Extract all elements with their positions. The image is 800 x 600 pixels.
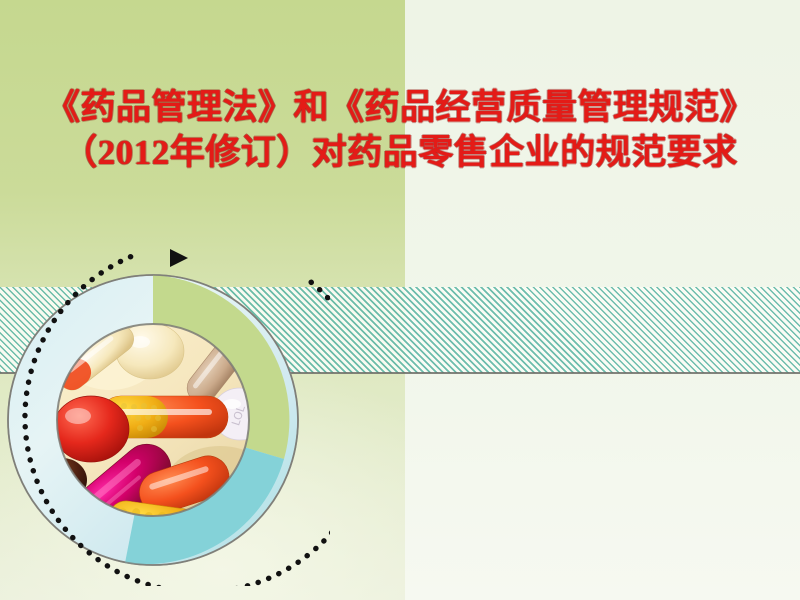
presentation-slide: LOL bbox=[0, 0, 800, 600]
red-gel-capsule bbox=[53, 396, 129, 462]
circle-graphic: LOL bbox=[0, 246, 330, 586]
circle-graphic-svg: LOL bbox=[0, 246, 330, 586]
arrow-head-icon bbox=[170, 249, 188, 267]
page-title: 《药品管理法》和《药品经营质量管理规范》 （2012年修订）对药品零售企业的规范… bbox=[0, 86, 800, 176]
title-line-2: （2012年修订）对药品零售企业的规范要求 bbox=[0, 131, 800, 176]
title-line-1: 《药品管理法》和《药品经营质量管理规范》 bbox=[0, 86, 800, 131]
